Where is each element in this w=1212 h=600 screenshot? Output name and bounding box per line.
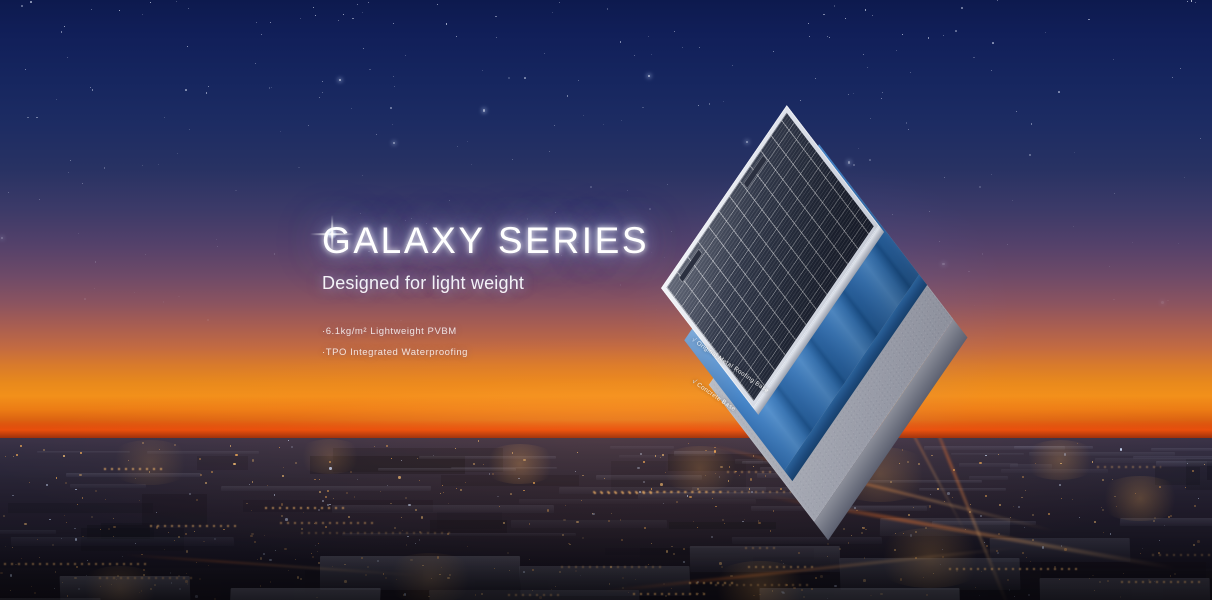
hero-banner: GALAXY SERIES Designed for light weight … [0, 0, 1212, 600]
aerial-city-ground [0, 438, 1212, 600]
